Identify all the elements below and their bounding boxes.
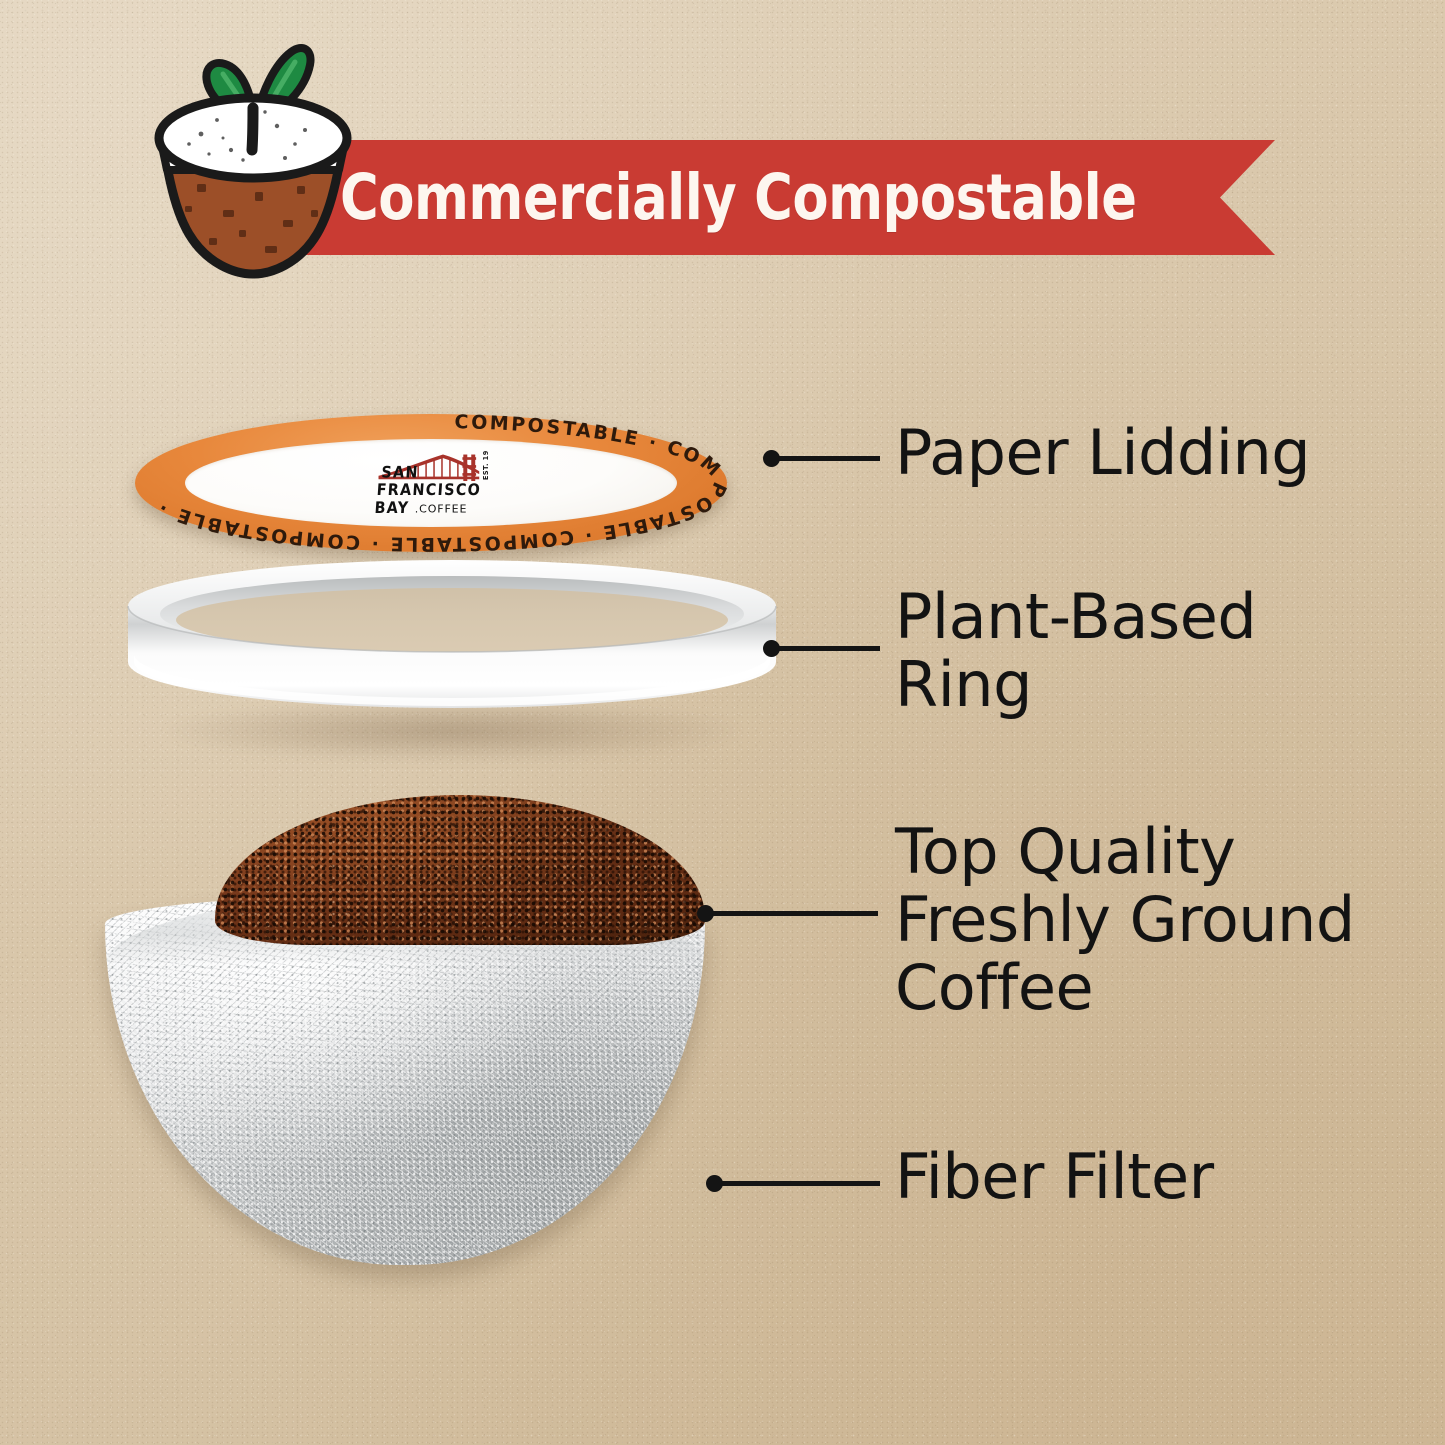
- logo-coffee-suffix: .COFFEE: [415, 503, 468, 516]
- leader-line-fiber-filter: [715, 1181, 880, 1186]
- coffee-grain-texture: [215, 795, 705, 945]
- logo-line-san: SAN: [381, 463, 420, 482]
- callout-plant-based-ring: Plant-Based Ring: [895, 583, 1256, 719]
- san-francisco-bay-coffee-logo: EST. 1979 SAN FRANCISCO BAY .COFFEE: [295, 451, 591, 517]
- leader-dot-plant-based-ring: [763, 640, 780, 657]
- paper-lid: COMPOSTABLE · COMPOSTABLE · COMPOSTABLE …: [135, 414, 727, 552]
- sprout-in-pot-icon: [145, 34, 360, 284]
- logo-line-bay: BAY: [374, 498, 410, 517]
- plant-based-ring: [122, 558, 782, 740]
- leader-line-coffee: [706, 911, 878, 916]
- logo-line-francisco: FRANCISCO: [376, 480, 482, 499]
- leader-dot-fiber-filter: [706, 1175, 723, 1192]
- banner-title: Commercially Compostable: [340, 141, 1177, 254]
- callout-top-quality-coffee: Top Quality Freshly Ground Coffee: [895, 818, 1355, 1023]
- leader-line-paper-lidding: [772, 456, 880, 461]
- coffee-grounds-mound: [215, 795, 705, 945]
- leader-line-plant-based-ring: [772, 646, 880, 651]
- leader-dot-paper-lidding: [763, 450, 780, 467]
- leader-dot-coffee: [697, 905, 714, 922]
- infographic-canvas: Commercially Compostable: [0, 0, 1445, 1445]
- callout-fiber-filter: Fiber Filter: [895, 1143, 1214, 1211]
- logo-established-text: EST. 1979: [482, 451, 490, 480]
- ring-geometry: [122, 558, 782, 740]
- fiber-filter: [105, 895, 705, 1265]
- callout-paper-lidding: Paper Lidding: [895, 419, 1310, 487]
